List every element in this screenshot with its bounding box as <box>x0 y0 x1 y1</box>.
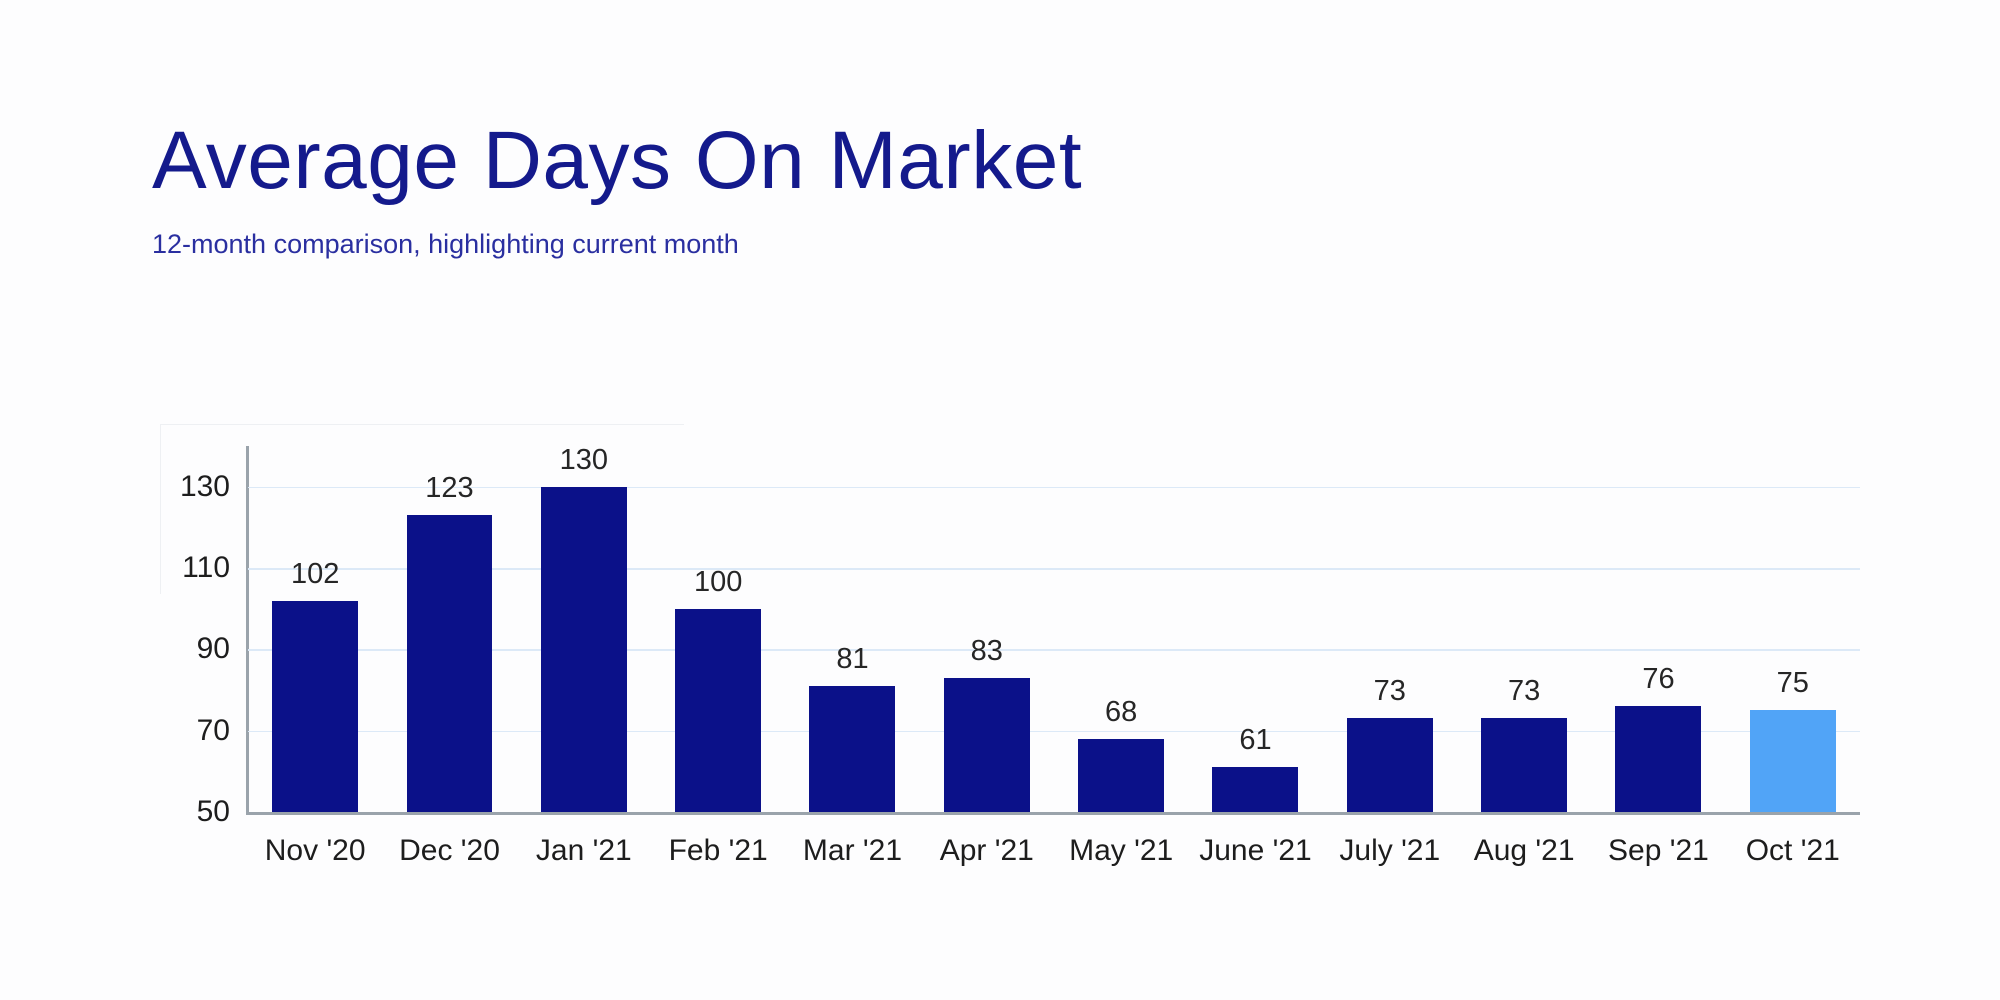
bar-value-label: 123 <box>382 472 516 505</box>
bar-slot: 123 <box>382 446 516 812</box>
bar[interactable] <box>407 515 493 812</box>
bar-value-label: 81 <box>785 643 919 676</box>
bar[interactable] <box>272 601 358 812</box>
y-axis-tick-label: 50 <box>197 795 230 829</box>
x-axis: Nov '20Dec '20Jan '21Feb '21Mar '21Apr '… <box>248 820 1860 868</box>
x-axis-tick-label: Nov '20 <box>248 820 382 868</box>
bar-value-label: 61 <box>1188 724 1322 757</box>
y-axis-tick-label: 70 <box>197 714 230 748</box>
bar[interactable] <box>1347 718 1433 812</box>
x-axis-tick-label: June '21 <box>1188 820 1322 868</box>
y-axis-tick-label: 110 <box>182 551 230 585</box>
y-axis-tick-label: 130 <box>180 470 230 504</box>
bar-slot: 68 <box>1054 446 1188 812</box>
y-axis-tick-label: 90 <box>197 632 230 666</box>
bar-slot: 102 <box>248 446 382 812</box>
bar-slot: 73 <box>1457 446 1591 812</box>
bar-slot: 76 <box>1591 446 1725 812</box>
x-axis-tick-label: July '21 <box>1323 820 1457 868</box>
page-title: Average Days On Market <box>152 118 1652 204</box>
bar-value-label: 73 <box>1323 675 1457 708</box>
bar-value-label: 76 <box>1591 663 1725 696</box>
bar-value-label: 130 <box>517 444 651 477</box>
bar-value-label: 102 <box>248 558 382 591</box>
bar-value-label: 68 <box>1054 696 1188 729</box>
x-axis-tick-label: Dec '20 <box>382 820 516 868</box>
x-axis-tick-label: Feb '21 <box>651 820 785 868</box>
chart-header: Average Days On Market 12-month comparis… <box>152 118 1652 260</box>
bar-slot: 75 <box>1726 446 1860 812</box>
bar-value-label: 75 <box>1726 667 1860 700</box>
bar[interactable] <box>675 609 761 812</box>
x-axis-tick-label: Aug '21 <box>1457 820 1591 868</box>
bar-highlighted[interactable] <box>1750 710 1836 812</box>
bar[interactable] <box>809 686 895 812</box>
bar[interactable] <box>541 487 627 812</box>
x-axis-tick-label: Sep '21 <box>1591 820 1725 868</box>
bar-value-label: 100 <box>651 566 785 599</box>
bar-slot: 73 <box>1323 446 1457 812</box>
bar[interactable] <box>1481 718 1567 812</box>
chart-subtitle: 12-month comparison, highlighting curren… <box>152 228 1652 260</box>
bar[interactable] <box>944 678 1030 812</box>
x-axis-tick-label: Mar '21 <box>785 820 919 868</box>
bar-chart: 507090110130 102123130100818368617373767… <box>160 424 1860 814</box>
bar[interactable] <box>1212 767 1298 812</box>
x-axis-tick-label: Apr '21 <box>920 820 1054 868</box>
bar-slot: 100 <box>651 446 785 812</box>
x-axis-line <box>246 812 1860 815</box>
x-axis-tick-label: Oct '21 <box>1726 820 1860 868</box>
bar-slot: 83 <box>920 446 1054 812</box>
bar-value-label: 83 <box>920 635 1054 668</box>
bar-value-label: 73 <box>1457 675 1591 708</box>
bar-slot: 61 <box>1188 446 1322 812</box>
bar[interactable] <box>1615 706 1701 812</box>
plot-area: 1021231301008183686173737675 <box>248 446 1860 812</box>
x-axis-tick-label: May '21 <box>1054 820 1188 868</box>
bar[interactable] <box>1078 739 1164 812</box>
bar-slot: 130 <box>517 446 651 812</box>
bar-series: 1021231301008183686173737675 <box>248 446 1860 812</box>
y-axis: 507090110130 <box>160 424 238 814</box>
bar-slot: 81 <box>785 446 919 812</box>
x-axis-tick-label: Jan '21 <box>517 820 651 868</box>
